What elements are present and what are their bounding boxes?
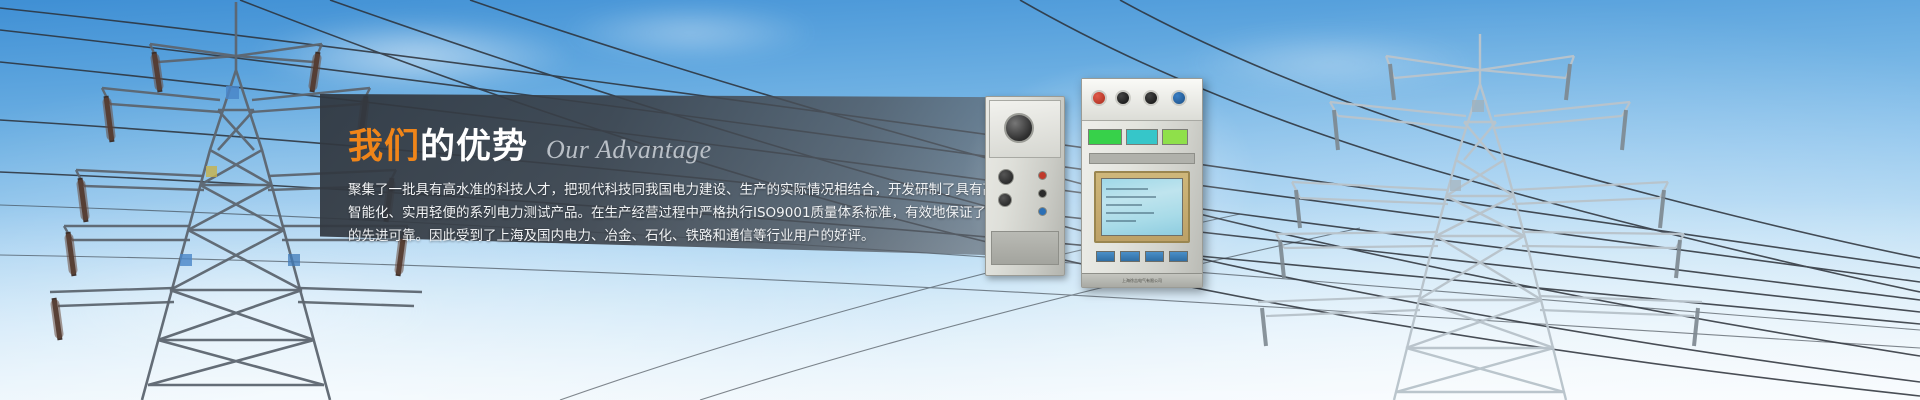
device-button <box>1096 251 1115 262</box>
description-line: 的先进可靠。因此受到了上海及国内电力、冶金、石化、铁路和通信等行业用户的好评。 <box>348 225 1020 248</box>
banner-description: 聚集了一批具有高水准的科技人才，把现代科技同我国电力建设、生产的实际情况相结合，… <box>348 179 1020 248</box>
device-label-bar <box>1089 153 1195 164</box>
device-terminal-blue <box>1171 90 1187 106</box>
device-button <box>1169 251 1188 262</box>
device-port-black <box>1038 189 1047 198</box>
device-button-row <box>1096 251 1188 262</box>
device-button <box>1120 251 1139 262</box>
title-english-subtitle: Our Advantage <box>546 135 712 165</box>
device-footer-text: 上海徐吉电气有限公司 <box>1082 273 1202 287</box>
device-terminal-black <box>1143 90 1159 106</box>
advantage-banner: 上海徐吉电气有限公司 我们的优势 Our Advantage 聚集了一批具有高水… <box>0 0 1920 400</box>
device-port-red <box>1038 171 1047 180</box>
device-port-blue <box>1038 207 1047 216</box>
device-screen <box>1101 178 1183 236</box>
description-line: 聚集了一批具有高水准的科技人才，把现代科技同我国电力建设、生产的实际情况相结合，… <box>348 179 1020 202</box>
device-terminal-head <box>1082 79 1202 121</box>
device-panel-strip <box>991 231 1059 265</box>
title-rest: 的优势 <box>420 118 528 169</box>
device-terminal-red <box>1091 90 1107 106</box>
device-terminal-black <box>1115 90 1131 106</box>
device-lid <box>989 100 1061 158</box>
indicator-lime <box>1162 129 1188 145</box>
device-screen-bezel <box>1094 171 1190 243</box>
indicator-green <box>1088 129 1122 145</box>
power-test-instrument-small <box>985 96 1065 276</box>
device-dial <box>1004 113 1034 143</box>
device-knob <box>998 193 1012 207</box>
banner-title: 我们的优势 Our Advantage <box>348 118 1020 169</box>
power-test-instrument-main: 上海徐吉电气有限公司 <box>1081 78 1203 288</box>
title-highlight: 我们 <box>348 118 420 169</box>
transmission-tower-right <box>1180 30 1740 400</box>
device-indicator-row <box>1088 127 1196 147</box>
indicator-cyan <box>1126 129 1158 145</box>
description-line: 智能化、实用轻便的系列电力测试产品。在生产经营过程中严格执行ISO9001质量体… <box>348 202 1020 225</box>
content-panel: 我们的优势 Our Advantage 聚集了一批具有高水准的科技人才，把现代科… <box>320 94 1020 256</box>
device-knob <box>998 169 1014 185</box>
device-button <box>1145 251 1164 262</box>
